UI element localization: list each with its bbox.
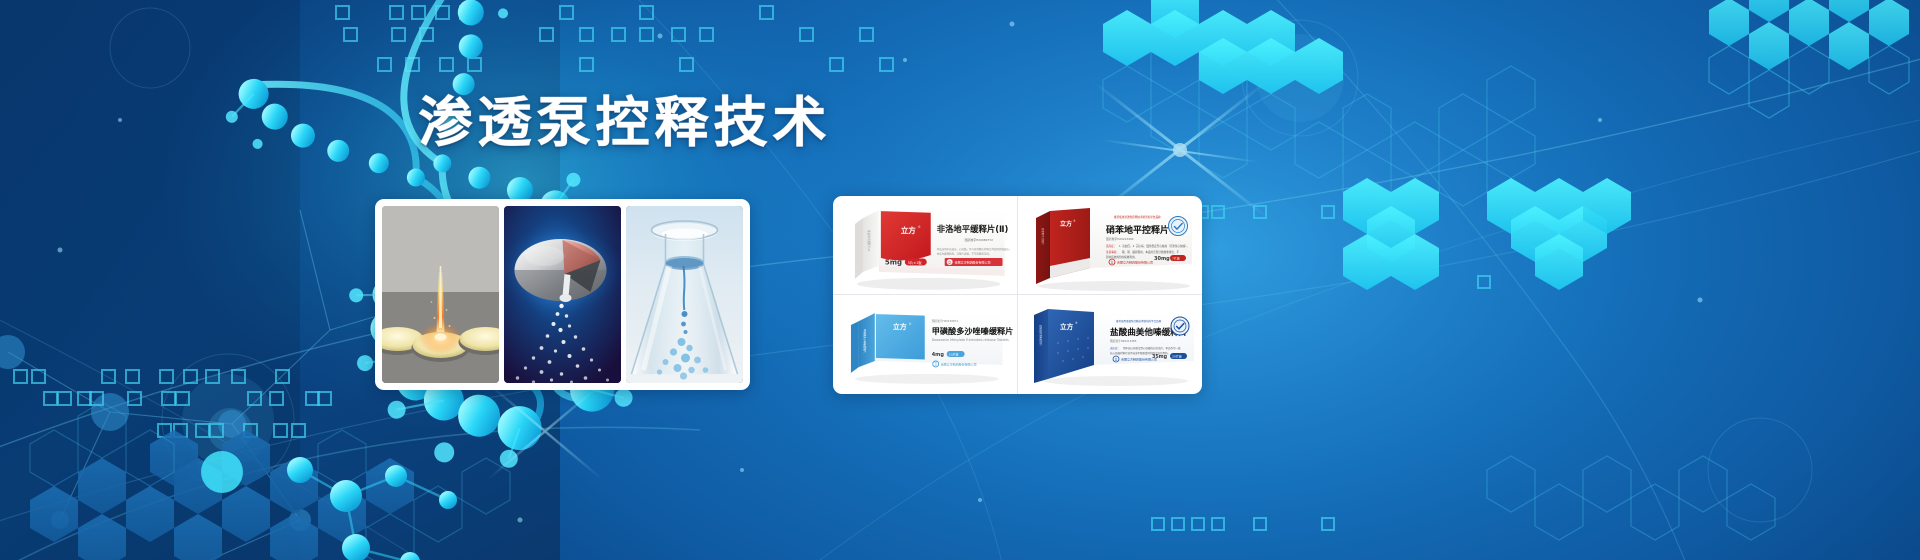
svg-text:7片装: 7片装 <box>1172 255 1180 260</box>
svg-text:国药准字H20213994: 国药准字H20213994 <box>1106 237 1134 241</box>
svg-text:适应症：: 适应症： <box>1106 244 1116 248</box>
svg-text:立方: 立方 <box>893 322 907 331</box>
svg-text:1. 高血压。2. 冠心病：慢性稳定型心绞痛（劳累性心绞痛）: 1. 高血压。2. 冠心病：慢性稳定型心绞痛（劳累性心绞痛）。 <box>1119 244 1189 248</box>
svg-text:非洛地平缓释片(Ⅱ): 非洛地平缓释片(Ⅱ) <box>937 224 1009 234</box>
svg-text:20片装: 20片装 <box>1172 354 1182 359</box>
svg-text:30mg: 30mg <box>1154 256 1170 262</box>
banner-title-wrap: 渗透泵控释技术 <box>0 78 1250 157</box>
svg-text:硝苯地平控释片: 硝苯地平控释片 <box>1106 224 1169 236</box>
svg-text:®: ® <box>918 225 921 229</box>
photo-strip <box>375 199 750 390</box>
product-cell-trimetazidine[interactable]: 盐酸曲美他嗪缓释片 立方 ® 推荐使用渗透泵控释技术制剂的平台品种 <box>1018 295 1203 394</box>
svg-text:5片×1板: 5片×1板 <box>908 259 922 264</box>
svg-text:10片装: 10片装 <box>949 352 959 357</box>
svg-text:Doxazosin Mesylate Extended-re: Doxazosin Mesylate Extended-release Tabl… <box>932 338 1009 342</box>
svg-text:5mg: 5mg <box>885 258 902 266</box>
product-cell-doxazosin[interactable]: 甲磺酸多沙唑嗪缓释片 立方 ® 国药准字H20150871 甲磺酸多沙唑嗪缓释片… <box>833 295 1018 394</box>
svg-text:立方: 立方 <box>1060 220 1072 228</box>
svg-text:非洛地平缓释片(Ⅱ): 非洛地平缓释片(Ⅱ) <box>867 230 871 251</box>
svg-text:合肥立方制药股份有限公司: 合肥立方制药股份有限公司 <box>955 259 991 264</box>
svg-text:立方: 立方 <box>901 225 916 235</box>
svg-text:合肥立方制药股份有限公司: 合肥立方制药股份有限公司 <box>1121 356 1157 361</box>
svg-text:嚼、掰、碾碎服用，本品外壳部分随粪便排出，不: 嚼、掰、碾碎服用，本品外壳部分随粪便排出，不 <box>1122 250 1179 254</box>
svg-text:本品适用于高血压、心绞痛，可与其他降压药物合并使用控制血压。: 本品适用于高血压、心绞痛，可与其他降压药物合并使用控制血压。 <box>937 246 1012 250</box>
svg-text:4mg: 4mg <box>932 352 945 358</box>
svg-text:推荐使用渗透泵控释技术制剂的平台品种: 推荐使用渗透泵控释技术制剂的平台品种 <box>1114 215 1161 219</box>
page-title: 渗透泵控释技术 <box>419 78 832 157</box>
svg-text:影响有效成份的吸收利用。: 影响有效成份的吸收利用。 <box>1106 255 1137 259</box>
product-cell-nifedipine[interactable]: 硝苯地平控释片 立方 ® 推荐使用渗透泵控释技术制剂的平台品种 硝苯地平控释片 … <box>1018 196 1203 295</box>
svg-text:本品为缓释制剂，应整片吞服，不可咀嚼或压碎。: 本品为缓释制剂，应整片吞服，不可咀嚼或压碎。 <box>937 251 992 255</box>
svg-text:盐酸曲美他嗪缓释片: 盐酸曲美他嗪缓释片 <box>1039 325 1043 346</box>
tablet-cutaway-photo <box>504 206 621 383</box>
svg-text:®: ® <box>909 322 912 326</box>
svg-text:®: ® <box>1073 219 1076 223</box>
svg-text:®: ® <box>1075 321 1078 325</box>
svg-text:用于冠心病稳定型心绞痛的对症治疗，本品作为一线: 用于冠心病稳定型心绞痛的对症治疗，本品作为一线 <box>1123 346 1181 350</box>
laser-drilling-photo <box>382 206 499 383</box>
svg-text:硝苯地平控释片: 硝苯地平控释片 <box>1041 228 1045 245</box>
svg-text:甲磺酸多沙唑嗪缓释片: 甲磺酸多沙唑嗪缓释片 <box>932 326 1014 336</box>
banner-root: 渗透泵控释技术 <box>0 0 1920 560</box>
svg-text:立: 立 <box>948 259 952 264</box>
svg-text:国药准字H20213265: 国药准字H20213265 <box>1110 339 1137 343</box>
svg-text:国药准字H20080772: 国药准字H20080772 <box>965 237 993 242</box>
dissolution-flask-photo <box>626 206 743 383</box>
svg-text:国药准字H20150871: 国药准字H20150871 <box>932 319 959 323</box>
svg-text:合肥立方制药股份有限公司: 合肥立方制药股份有限公司 <box>941 361 977 366</box>
product-panel: 非洛地平缓释片(Ⅱ) 立方 ® 非洛地平缓释片(Ⅱ) 国药准字H20080772… <box>833 196 1202 394</box>
product-cell-felodipine[interactable]: 非洛地平缓释片(Ⅱ) 立方 ® 非洛地平缓释片(Ⅱ) 国药准字H20080772… <box>833 196 1018 295</box>
svg-text:注意事项：: 注意事项： <box>1106 250 1119 254</box>
svg-text:推荐使用渗透泵控释技术制剂的平台品种: 推荐使用渗透泵控释技术制剂的平台品种 <box>1116 319 1162 323</box>
svg-text:立方: 立方 <box>1060 322 1074 331</box>
svg-text:适应症：: 适应症： <box>1110 346 1120 350</box>
svg-text:合肥立方制药股份有限公司: 合肥立方制药股份有限公司 <box>1117 259 1153 264</box>
svg-text:甲磺酸多沙唑嗪缓释片: 甲磺酸多沙唑嗪缓释片 <box>863 329 867 353</box>
